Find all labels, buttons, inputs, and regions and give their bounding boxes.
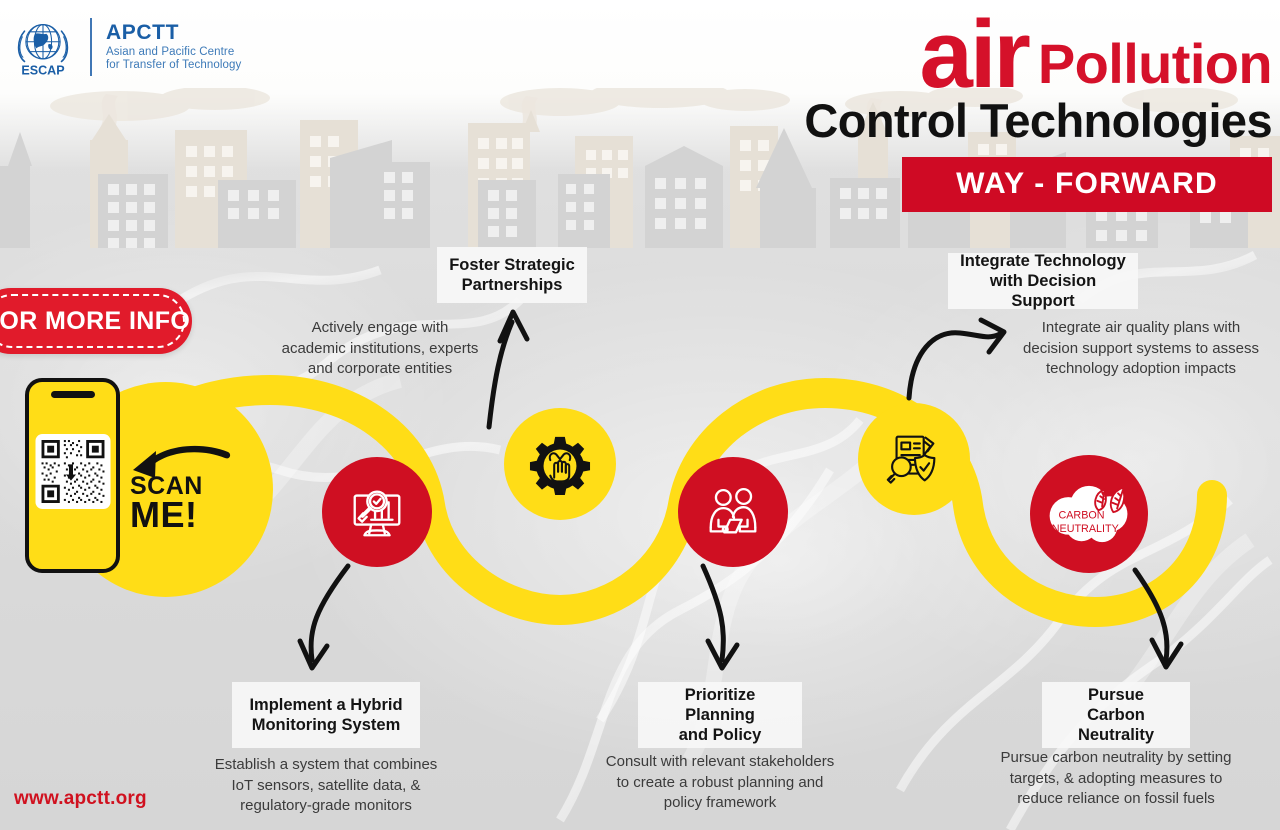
qr-code-icon [39, 438, 106, 505]
desc-line1: Integrate air quality plans with [1010, 318, 1272, 339]
step-node-hybrid-monitoring[interactable] [322, 457, 432, 567]
step-title-line2: Carbon Neutrality [1078, 706, 1154, 744]
step-title-line2: Partnerships [462, 276, 563, 294]
step-description-planning-and-policy: Consult with relevant stakeholders to cr… [586, 752, 854, 814]
desc-line2: academic institutions, experts [278, 339, 482, 360]
website-url[interactable]: www.apctt.org [14, 788, 147, 810]
step-title-line1: Pursue [1088, 686, 1144, 704]
carbon-icon-line1: CARBON [1058, 510, 1104, 522]
step-description-hybrid-monitoring: Establish a system that combines IoT sen… [192, 755, 460, 817]
step-node-planning-and-policy[interactable] [678, 457, 788, 567]
desc-line2: to create a robust planning and [586, 773, 854, 794]
step-title-line1: Integrate Technology [960, 252, 1126, 270]
monitor-magnifier-check-icon [346, 481, 408, 543]
step-label-hybrid-monitoring: Implement a Hybrid Monitoring System [232, 682, 420, 748]
desc-line3: regulatory-grade monitors [192, 796, 460, 817]
qr-code[interactable] [35, 434, 110, 509]
desc-line3: and corporate entities [278, 359, 482, 380]
step-title-line2: Monitoring System [252, 716, 401, 734]
step-title-line1: Implement a Hybrid [249, 696, 402, 714]
arrow-to-hybrid-monitoring [311, 566, 348, 660]
for-more-info-label: FOR MORE INFO [0, 307, 190, 336]
infographic-canvas: ESCAP APCTT Asian and Pacific Centre for… [0, 0, 1280, 830]
step-node-integrate-technology[interactable] [858, 403, 970, 515]
for-more-info-badge: FOR MORE INFO [0, 288, 192, 354]
step-label-strategic-partnerships: Foster Strategic Partnerships [437, 247, 587, 303]
desc-line3: policy framework [586, 793, 854, 814]
step-label-carbon-neutrality: Pursue Carbon Neutrality [1042, 682, 1190, 748]
step-description-carbon-neutrality: Pursue carbon neutrality by setting targ… [980, 748, 1252, 810]
step-title-line1: Foster Strategic [449, 256, 575, 274]
two-people-meeting-icon [702, 481, 764, 543]
phone-notch [51, 391, 95, 398]
carbon-neutrality-cloud-icon: CARBON NEUTRALITY [1044, 478, 1134, 550]
scan-line2: ME [130, 494, 185, 535]
scan-me-text: SCAN ME! [130, 475, 230, 531]
step-title-line2: and Policy [679, 726, 762, 744]
step-label-planning-and-policy: Prioritize Planning and Policy [638, 682, 802, 748]
desc-line1: Pursue carbon neutrality by setting [980, 748, 1252, 769]
step-description-strategic-partnerships: Actively engage with academic institutio… [278, 318, 482, 380]
gear-hands-icon [529, 433, 591, 495]
step-node-strategic-partnerships[interactable] [504, 408, 616, 520]
scan-exclaim: ! [185, 494, 198, 535]
desc-line2: IoT sensors, satellite data, & [192, 776, 460, 797]
step-title-line2: with Decision Support [990, 272, 1096, 310]
desc-line2: decision support systems to assess [1010, 339, 1272, 360]
step-label-integrate-technology: Integrate Technology with Decision Suppo… [948, 253, 1138, 309]
desc-line1: Consult with relevant stakeholders [586, 752, 854, 773]
step-title-line1: Prioritize Planning [685, 686, 756, 724]
step-node-carbon-neutrality[interactable]: CARBON NEUTRALITY [1030, 455, 1148, 573]
desc-line3: reduce reliance on fossil fuels [980, 789, 1252, 810]
desc-line2: targets, & adopting measures to [980, 769, 1252, 790]
step-description-integrate-technology: Integrate air quality plans with decisio… [1010, 318, 1272, 380]
desc-line3: technology adoption impacts [1010, 359, 1272, 380]
desc-line1: Establish a system that combines [192, 755, 460, 776]
desc-line1: Actively engage with [278, 318, 482, 339]
document-magnifier-shield-icon [883, 428, 945, 490]
phone-mockup [25, 378, 120, 573]
carbon-icon-line2: NEUTRALITY [1052, 523, 1119, 535]
